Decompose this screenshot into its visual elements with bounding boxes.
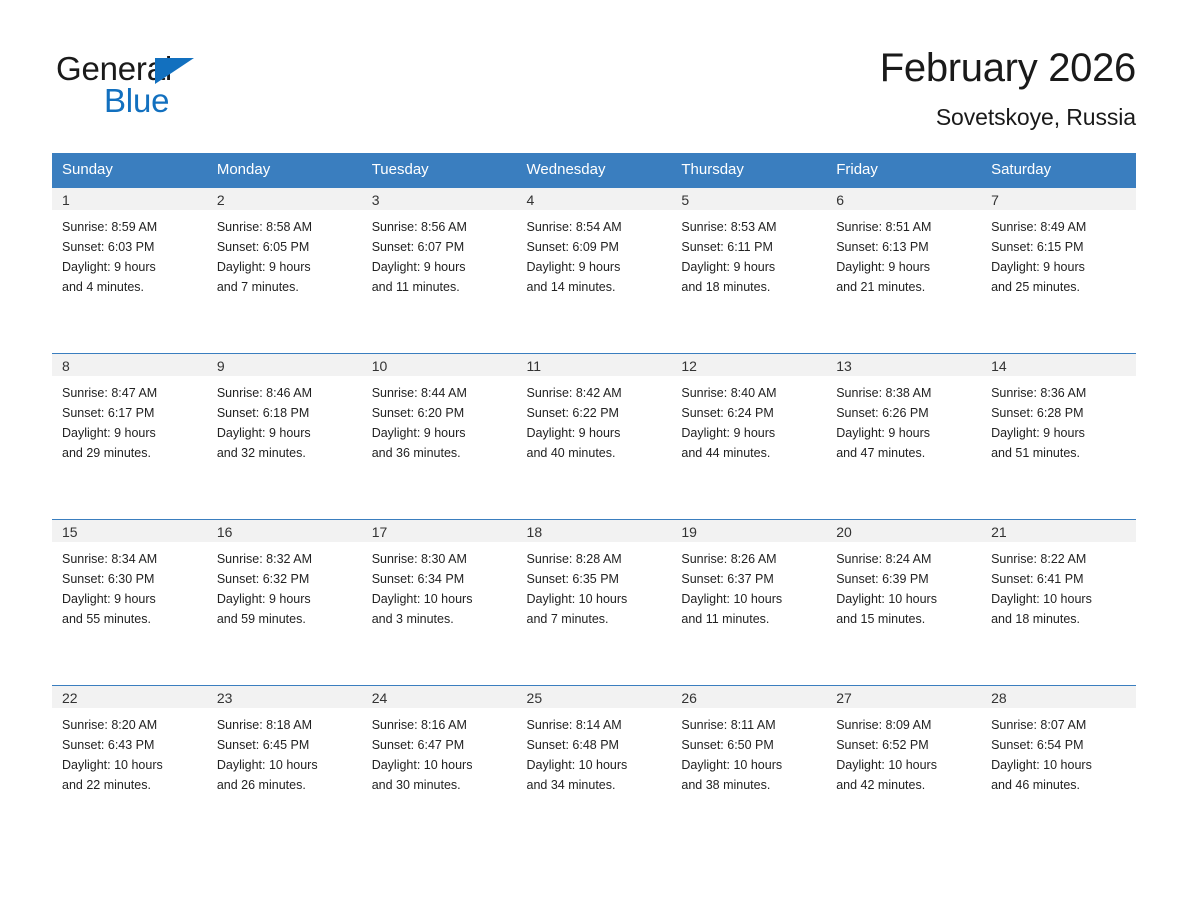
sunrise-text: Sunrise: 8:32 AM xyxy=(217,549,354,569)
weekday-header-thursday: Thursday xyxy=(671,153,826,187)
sunrise-text: Sunrise: 8:14 AM xyxy=(527,715,664,735)
day-details: Sunrise: 8:54 AMSunset: 6:09 PMDaylight:… xyxy=(517,210,672,297)
calendar-day-cell[interactable]: 4Sunrise: 8:54 AMSunset: 6:09 PMDaylight… xyxy=(517,187,672,353)
daylight-text-line2: and 40 minutes. xyxy=(527,443,664,463)
sunset-text: Sunset: 6:07 PM xyxy=(372,237,509,257)
calendar-day-cell[interactable]: 13Sunrise: 8:38 AMSunset: 6:26 PMDayligh… xyxy=(826,353,981,519)
daylight-text-line2: and 15 minutes. xyxy=(836,609,973,629)
calendar-day-cell[interactable]: 18Sunrise: 8:28 AMSunset: 6:35 PMDayligh… xyxy=(517,519,672,685)
day-number: 25 xyxy=(517,685,672,708)
day-details: Sunrise: 8:30 AMSunset: 6:34 PMDaylight:… xyxy=(362,542,517,629)
calendar-week-row: 1Sunrise: 8:59 AMSunset: 6:03 PMDaylight… xyxy=(52,187,1136,353)
day-details: Sunrise: 8:14 AMSunset: 6:48 PMDaylight:… xyxy=(517,708,672,795)
day-number: 17 xyxy=(362,519,517,542)
day-details: Sunrise: 8:20 AMSunset: 6:43 PMDaylight:… xyxy=(52,708,207,795)
daylight-text-line1: Daylight: 10 hours xyxy=(372,589,509,609)
sunset-text: Sunset: 6:39 PM xyxy=(836,569,973,589)
daylight-text-line1: Daylight: 9 hours xyxy=(62,423,199,443)
sunrise-text: Sunrise: 8:09 AM xyxy=(836,715,973,735)
day-number: 12 xyxy=(671,353,826,376)
daylight-text-line2: and 59 minutes. xyxy=(217,609,354,629)
daylight-text-line1: Daylight: 9 hours xyxy=(372,423,509,443)
sunrise-text: Sunrise: 8:51 AM xyxy=(836,217,973,237)
daylight-text-line1: Daylight: 10 hours xyxy=(217,755,354,775)
day-number: 23 xyxy=(207,685,362,708)
calendar-body: 1Sunrise: 8:59 AMSunset: 6:03 PMDaylight… xyxy=(52,187,1136,851)
day-number: 19 xyxy=(671,519,826,542)
daylight-text-line1: Daylight: 10 hours xyxy=(991,755,1128,775)
calendar-day-cell[interactable]: 16Sunrise: 8:32 AMSunset: 6:32 PMDayligh… xyxy=(207,519,362,685)
daylight-text-line2: and 42 minutes. xyxy=(836,775,973,795)
sunrise-text: Sunrise: 8:28 AM xyxy=(527,549,664,569)
day-number: 24 xyxy=(362,685,517,708)
daylight-text-line2: and 21 minutes. xyxy=(836,277,973,297)
calendar-day-cell[interactable]: 11Sunrise: 8:42 AMSunset: 6:22 PMDayligh… xyxy=(517,353,672,519)
sunrise-text: Sunrise: 8:22 AM xyxy=(991,549,1128,569)
day-details: Sunrise: 8:49 AMSunset: 6:15 PMDaylight:… xyxy=(981,210,1136,297)
sunset-text: Sunset: 6:26 PM xyxy=(836,403,973,423)
day-number: 7 xyxy=(981,187,1136,210)
daylight-text-line1: Daylight: 9 hours xyxy=(62,589,199,609)
sunset-text: Sunset: 6:24 PM xyxy=(681,403,818,423)
daylight-text-line2: and 44 minutes. xyxy=(681,443,818,463)
calendar-day-cell[interactable]: 24Sunrise: 8:16 AMSunset: 6:47 PMDayligh… xyxy=(362,685,517,851)
day-number: 3 xyxy=(362,187,517,210)
day-details: Sunrise: 8:28 AMSunset: 6:35 PMDaylight:… xyxy=(517,542,672,629)
daylight-text-line1: Daylight: 9 hours xyxy=(62,257,199,277)
daylight-text-line1: Daylight: 9 hours xyxy=(527,423,664,443)
sunset-text: Sunset: 6:17 PM xyxy=(62,403,199,423)
calendar-day-cell[interactable]: 3Sunrise: 8:56 AMSunset: 6:07 PMDaylight… xyxy=(362,187,517,353)
daylight-text-line2: and 38 minutes. xyxy=(681,775,818,795)
weekday-header-wednesday: Wednesday xyxy=(517,153,672,187)
daylight-text-line1: Daylight: 10 hours xyxy=(836,755,973,775)
sunset-text: Sunset: 6:45 PM xyxy=(217,735,354,755)
day-number: 16 xyxy=(207,519,362,542)
sunrise-text: Sunrise: 8:54 AM xyxy=(527,217,664,237)
sunrise-text: Sunrise: 8:16 AM xyxy=(372,715,509,735)
sunrise-text: Sunrise: 8:44 AM xyxy=(372,383,509,403)
day-details: Sunrise: 8:44 AMSunset: 6:20 PMDaylight:… xyxy=(362,376,517,463)
day-details: Sunrise: 8:24 AMSunset: 6:39 PMDaylight:… xyxy=(826,542,981,629)
sunset-text: Sunset: 6:52 PM xyxy=(836,735,973,755)
sunset-text: Sunset: 6:43 PM xyxy=(62,735,199,755)
triangle-icon xyxy=(155,58,194,84)
calendar-day-cell[interactable]: 26Sunrise: 8:11 AMSunset: 6:50 PMDayligh… xyxy=(671,685,826,851)
daylight-text-line2: and 34 minutes. xyxy=(527,775,664,795)
day-number: 13 xyxy=(826,353,981,376)
sunset-text: Sunset: 6:15 PM xyxy=(991,237,1128,257)
calendar-day-cell[interactable]: 17Sunrise: 8:30 AMSunset: 6:34 PMDayligh… xyxy=(362,519,517,685)
sunrise-text: Sunrise: 8:42 AM xyxy=(527,383,664,403)
day-details: Sunrise: 8:16 AMSunset: 6:47 PMDaylight:… xyxy=(362,708,517,795)
calendar-day-cell[interactable]: 10Sunrise: 8:44 AMSunset: 6:20 PMDayligh… xyxy=(362,353,517,519)
sunrise-text: Sunrise: 8:24 AM xyxy=(836,549,973,569)
daylight-text-line1: Daylight: 10 hours xyxy=(527,755,664,775)
daylight-text-line1: Daylight: 9 hours xyxy=(836,423,973,443)
day-number: 11 xyxy=(517,353,672,376)
sunset-text: Sunset: 6:41 PM xyxy=(991,569,1128,589)
daylight-text-line1: Daylight: 9 hours xyxy=(681,423,818,443)
sunrise-text: Sunrise: 8:58 AM xyxy=(217,217,354,237)
daylight-text-line1: Daylight: 10 hours xyxy=(681,589,818,609)
weekday-header-row: Sunday Monday Tuesday Wednesday Thursday… xyxy=(52,153,1136,187)
calendar-day-cell[interactable]: 21Sunrise: 8:22 AMSunset: 6:41 PMDayligh… xyxy=(981,519,1136,685)
weekday-header-tuesday: Tuesday xyxy=(362,153,517,187)
day-number: 9 xyxy=(207,353,362,376)
daylight-text-line2: and 18 minutes. xyxy=(991,609,1128,629)
sunrise-text: Sunrise: 8:34 AM xyxy=(62,549,199,569)
day-number: 2 xyxy=(207,187,362,210)
day-number: 21 xyxy=(981,519,1136,542)
calendar-week-row: 8Sunrise: 8:47 AMSunset: 6:17 PMDaylight… xyxy=(52,353,1136,519)
sunset-text: Sunset: 6:32 PM xyxy=(217,569,354,589)
daylight-text-line2: and 29 minutes. xyxy=(62,443,199,463)
calendar-day-cell[interactable]: 27Sunrise: 8:09 AMSunset: 6:52 PMDayligh… xyxy=(826,685,981,851)
day-number: 6 xyxy=(826,187,981,210)
daylight-text-line2: and 36 minutes. xyxy=(372,443,509,463)
daylight-text-line1: Daylight: 9 hours xyxy=(372,257,509,277)
sunset-text: Sunset: 6:20 PM xyxy=(372,403,509,423)
sunset-text: Sunset: 6:54 PM xyxy=(991,735,1128,755)
daylight-text-line2: and 30 minutes. xyxy=(372,775,509,795)
sunrise-text: Sunrise: 8:07 AM xyxy=(991,715,1128,735)
sunset-text: Sunset: 6:30 PM xyxy=(62,569,199,589)
sunrise-text: Sunrise: 8:53 AM xyxy=(681,217,818,237)
day-number: 1 xyxy=(52,187,207,210)
calendar-page: General Blue February 2026 Sovetskoye, R… xyxy=(0,0,1188,918)
day-number: 26 xyxy=(671,685,826,708)
weekday-header-sunday: Sunday xyxy=(52,153,207,187)
daylight-text-line2: and 32 minutes. xyxy=(217,443,354,463)
sunrise-text: Sunrise: 8:38 AM xyxy=(836,383,973,403)
daylight-text-line1: Daylight: 9 hours xyxy=(836,257,973,277)
daylight-text-line1: Daylight: 10 hours xyxy=(836,589,973,609)
calendar-day-cell[interactable]: 1Sunrise: 8:59 AMSunset: 6:03 PMDaylight… xyxy=(52,187,207,353)
daylight-text-line2: and 3 minutes. xyxy=(372,609,509,629)
sunset-text: Sunset: 6:50 PM xyxy=(681,735,818,755)
daylight-text-line2: and 25 minutes. xyxy=(991,277,1128,297)
day-number: 15 xyxy=(52,519,207,542)
sunset-text: Sunset: 6:05 PM xyxy=(217,237,354,257)
day-number: 28 xyxy=(981,685,1136,708)
day-number: 4 xyxy=(517,187,672,210)
day-number: 10 xyxy=(362,353,517,376)
sunrise-text: Sunrise: 8:11 AM xyxy=(681,715,818,735)
day-number: 14 xyxy=(981,353,1136,376)
daylight-text-line2: and 22 minutes. xyxy=(62,775,199,795)
daylight-text-line2: and 51 minutes. xyxy=(991,443,1128,463)
sunrise-text: Sunrise: 8:49 AM xyxy=(991,217,1128,237)
calendar-week-row: 15Sunrise: 8:34 AMSunset: 6:30 PMDayligh… xyxy=(52,519,1136,685)
daylight-text-line1: Daylight: 9 hours xyxy=(217,589,354,609)
daylight-text-line1: Daylight: 9 hours xyxy=(217,423,354,443)
sunrise-text: Sunrise: 8:26 AM xyxy=(681,549,818,569)
sunrise-text: Sunrise: 8:30 AM xyxy=(372,549,509,569)
calendar-day-cell[interactable]: 9Sunrise: 8:46 AMSunset: 6:18 PMDaylight… xyxy=(207,353,362,519)
sunset-text: Sunset: 6:18 PM xyxy=(217,403,354,423)
sunrise-text: Sunrise: 8:46 AM xyxy=(217,383,354,403)
daylight-text-line1: Daylight: 10 hours xyxy=(527,589,664,609)
daylight-text-line1: Daylight: 10 hours xyxy=(372,755,509,775)
sunrise-text: Sunrise: 8:20 AM xyxy=(62,715,199,735)
sunset-text: Sunset: 6:09 PM xyxy=(527,237,664,257)
logo-text-blue: Blue xyxy=(104,84,169,117)
sunrise-text: Sunrise: 8:56 AM xyxy=(372,217,509,237)
calendar-day-cell[interactable]: 12Sunrise: 8:40 AMSunset: 6:24 PMDayligh… xyxy=(671,353,826,519)
daylight-text-line2: and 7 minutes. xyxy=(217,277,354,297)
calendar-day-cell[interactable]: 2Sunrise: 8:58 AMSunset: 6:05 PMDaylight… xyxy=(207,187,362,353)
sunrise-text: Sunrise: 8:18 AM xyxy=(217,715,354,735)
daylight-text-line1: Daylight: 9 hours xyxy=(991,423,1128,443)
daylight-text-line1: Daylight: 9 hours xyxy=(217,257,354,277)
sunset-text: Sunset: 6:28 PM xyxy=(991,403,1128,423)
page-subtitle: Sovetskoye, Russia xyxy=(880,104,1136,131)
calendar-day-cell[interactable]: 28Sunrise: 8:07 AMSunset: 6:54 PMDayligh… xyxy=(981,685,1136,851)
day-details: Sunrise: 8:18 AMSunset: 6:45 PMDaylight:… xyxy=(207,708,362,795)
daylight-text-line2: and 7 minutes. xyxy=(527,609,664,629)
day-details: Sunrise: 8:40 AMSunset: 6:24 PMDaylight:… xyxy=(671,376,826,463)
day-number: 5 xyxy=(671,187,826,210)
calendar-day-cell[interactable]: 19Sunrise: 8:26 AMSunset: 6:37 PMDayligh… xyxy=(671,519,826,685)
day-details: Sunrise: 8:59 AMSunset: 6:03 PMDaylight:… xyxy=(52,210,207,297)
calendar-week-row: 22Sunrise: 8:20 AMSunset: 6:43 PMDayligh… xyxy=(52,685,1136,851)
daylight-text-line1: Daylight: 9 hours xyxy=(991,257,1128,277)
weekday-header-saturday: Saturday xyxy=(981,153,1136,187)
day-number: 20 xyxy=(826,519,981,542)
daylight-text-line2: and 47 minutes. xyxy=(836,443,973,463)
day-number: 22 xyxy=(52,685,207,708)
day-number: 18 xyxy=(517,519,672,542)
daylight-text-line2: and 11 minutes. xyxy=(681,609,818,629)
page-title: February 2026 xyxy=(880,46,1136,90)
generalblue-logo: General Blue xyxy=(56,44,206,118)
day-details: Sunrise: 8:46 AMSunset: 6:18 PMDaylight:… xyxy=(207,376,362,463)
day-number: 27 xyxy=(826,685,981,708)
daylight-text-line2: and 14 minutes. xyxy=(527,277,664,297)
sunset-text: Sunset: 6:34 PM xyxy=(372,569,509,589)
daylight-text-line2: and 4 minutes. xyxy=(62,277,199,297)
daylight-text-line2: and 11 minutes. xyxy=(372,277,509,297)
daylight-text-line2: and 46 minutes. xyxy=(991,775,1128,795)
day-details: Sunrise: 8:42 AMSunset: 6:22 PMDaylight:… xyxy=(517,376,672,463)
sunset-text: Sunset: 6:37 PM xyxy=(681,569,818,589)
day-details: Sunrise: 8:07 AMSunset: 6:54 PMDaylight:… xyxy=(981,708,1136,795)
calendar-day-cell[interactable]: 23Sunrise: 8:18 AMSunset: 6:45 PMDayligh… xyxy=(207,685,362,851)
day-details: Sunrise: 8:11 AMSunset: 6:50 PMDaylight:… xyxy=(671,708,826,795)
sunset-text: Sunset: 6:48 PM xyxy=(527,735,664,755)
sunrise-text: Sunrise: 8:36 AM xyxy=(991,383,1128,403)
calendar-day-cell[interactable]: 20Sunrise: 8:24 AMSunset: 6:39 PMDayligh… xyxy=(826,519,981,685)
sunrise-text: Sunrise: 8:47 AM xyxy=(62,383,199,403)
calendar-day-cell[interactable]: 8Sunrise: 8:47 AMSunset: 6:17 PMDaylight… xyxy=(52,353,207,519)
sunset-text: Sunset: 6:35 PM xyxy=(527,569,664,589)
day-details: Sunrise: 8:38 AMSunset: 6:26 PMDaylight:… xyxy=(826,376,981,463)
day-details: Sunrise: 8:09 AMSunset: 6:52 PMDaylight:… xyxy=(826,708,981,795)
sunset-text: Sunset: 6:03 PM xyxy=(62,237,199,257)
sunset-text: Sunset: 6:22 PM xyxy=(527,403,664,423)
sunrise-sunset-calendar: Sunday Monday Tuesday Wednesday Thursday… xyxy=(52,153,1136,851)
day-details: Sunrise: 8:36 AMSunset: 6:28 PMDaylight:… xyxy=(981,376,1136,463)
calendar-day-cell[interactable]: 7Sunrise: 8:49 AMSunset: 6:15 PMDaylight… xyxy=(981,187,1136,353)
calendar-day-cell[interactable]: 14Sunrise: 8:36 AMSunset: 6:28 PMDayligh… xyxy=(981,353,1136,519)
day-details: Sunrise: 8:58 AMSunset: 6:05 PMDaylight:… xyxy=(207,210,362,297)
day-details: Sunrise: 8:22 AMSunset: 6:41 PMDaylight:… xyxy=(981,542,1136,629)
sunrise-text: Sunrise: 8:40 AM xyxy=(681,383,818,403)
weekday-header-monday: Monday xyxy=(207,153,362,187)
calendar-day-cell[interactable]: 5Sunrise: 8:53 AMSunset: 6:11 PMDaylight… xyxy=(671,187,826,353)
day-details: Sunrise: 8:34 AMSunset: 6:30 PMDaylight:… xyxy=(52,542,207,629)
daylight-text-line2: and 55 minutes. xyxy=(62,609,199,629)
daylight-text-line1: Daylight: 10 hours xyxy=(62,755,199,775)
daylight-text-line1: Daylight: 10 hours xyxy=(681,755,818,775)
day-details: Sunrise: 8:53 AMSunset: 6:11 PMDaylight:… xyxy=(671,210,826,297)
sunset-text: Sunset: 6:11 PM xyxy=(681,237,818,257)
day-details: Sunrise: 8:51 AMSunset: 6:13 PMDaylight:… xyxy=(826,210,981,297)
daylight-text-line1: Daylight: 9 hours xyxy=(681,257,818,277)
calendar-day-cell[interactable]: 6Sunrise: 8:51 AMSunset: 6:13 PMDaylight… xyxy=(826,187,981,353)
day-details: Sunrise: 8:47 AMSunset: 6:17 PMDaylight:… xyxy=(52,376,207,463)
daylight-text-line1: Daylight: 9 hours xyxy=(527,257,664,277)
day-number: 8 xyxy=(52,353,207,376)
daylight-text-line2: and 18 minutes. xyxy=(681,277,818,297)
day-details: Sunrise: 8:32 AMSunset: 6:32 PMDaylight:… xyxy=(207,542,362,629)
weekday-header-friday: Friday xyxy=(826,153,981,187)
day-details: Sunrise: 8:56 AMSunset: 6:07 PMDaylight:… xyxy=(362,210,517,297)
title-block: February 2026 Sovetskoye, Russia xyxy=(880,44,1136,131)
daylight-text-line1: Daylight: 10 hours xyxy=(991,589,1128,609)
sunrise-text: Sunrise: 8:59 AM xyxy=(62,217,199,237)
sunset-text: Sunset: 6:47 PM xyxy=(372,735,509,755)
daylight-text-line2: and 26 minutes. xyxy=(217,775,354,795)
sunset-text: Sunset: 6:13 PM xyxy=(836,237,973,257)
calendar-day-cell[interactable]: 15Sunrise: 8:34 AMSunset: 6:30 PMDayligh… xyxy=(52,519,207,685)
page-header: General Blue February 2026 Sovetskoye, R… xyxy=(0,0,1188,131)
calendar-day-cell[interactable]: 25Sunrise: 8:14 AMSunset: 6:48 PMDayligh… xyxy=(517,685,672,851)
day-details: Sunrise: 8:26 AMSunset: 6:37 PMDaylight:… xyxy=(671,542,826,629)
calendar-day-cell[interactable]: 22Sunrise: 8:20 AMSunset: 6:43 PMDayligh… xyxy=(52,685,207,851)
